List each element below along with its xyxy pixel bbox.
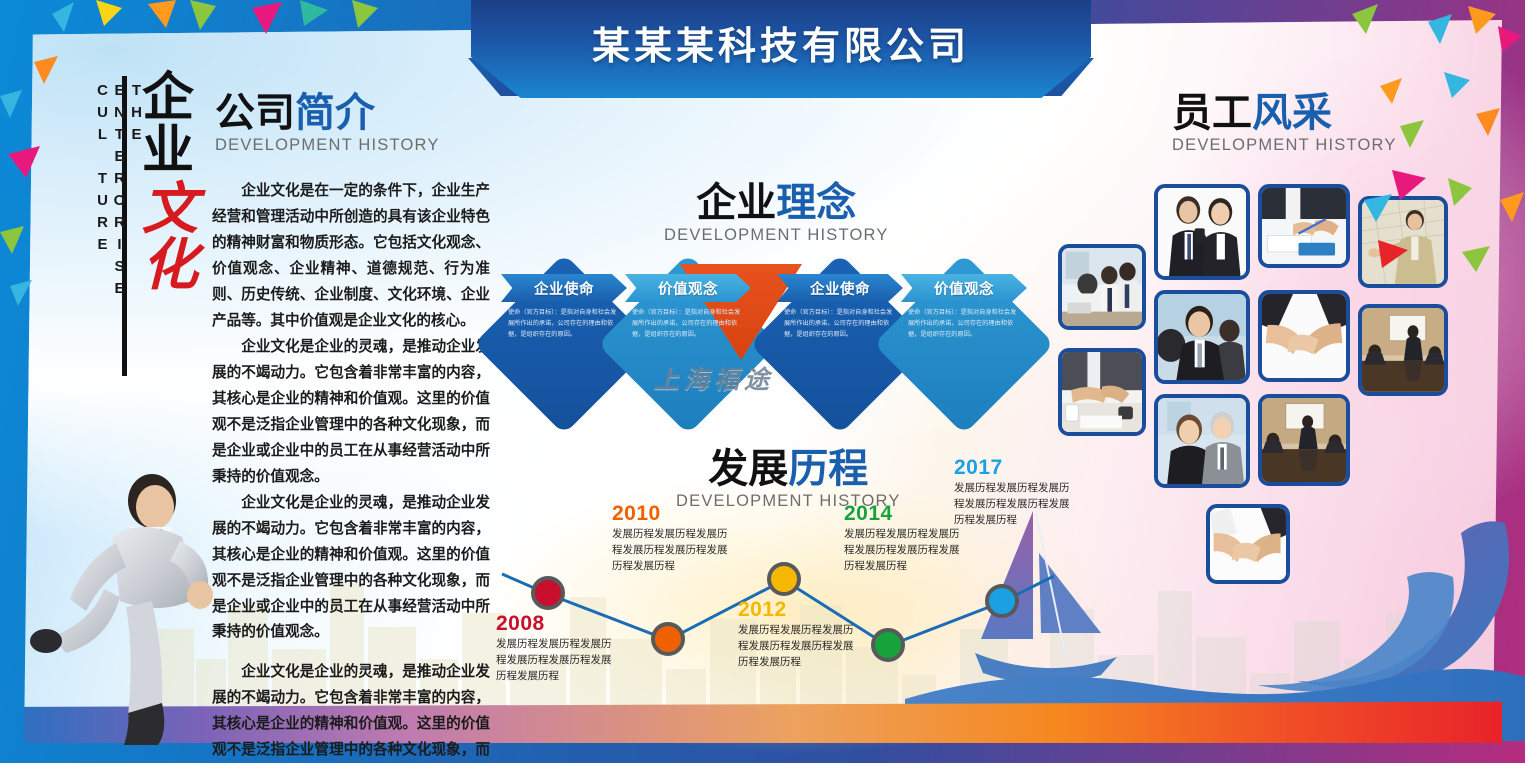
timeline-node-2017[interactable] [985,584,1019,618]
timeline-desc-2017: 发展历程发展历程发展历程发展历程发展历程发展历程发展历程 [954,481,1074,528]
staff-heading-cn-dark: 员工 [1172,90,1252,136]
photo-handshake-bottom[interactable] [1206,504,1290,584]
staff-heading-cn-blue: 风采 [1252,90,1332,136]
intro-paragraph-1: 企业文化是在一定的条件下，企业生产经营和管理活动中所创造的具有该企业特色的精神财… [212,178,490,334]
section-heading-idea: 企业理念 DEVELOPMENT HISTORY [664,182,889,245]
watermark-text: 上海福途 [654,360,774,396]
idea-heading-en: DEVELOPMENT HISTORY [664,226,889,245]
timeline-node-2008[interactable] [531,576,565,610]
photo-handshake-over-desk[interactable] [1058,348,1146,436]
section-heading-staff: 员工风采 DEVELOPMENT HISTORY [1172,92,1397,155]
company-heading-cn-blue: 简介 [295,90,375,136]
header-banner: 某某某科技有限公司 [471,0,1091,98]
intro-paragraph-3: 企业文化是企业的灵魂，是推动企业发展的不竭动力。它包含着非常丰富的内容，其核心是… [212,490,490,646]
photo-two-colleagues-smartphone[interactable] [1154,184,1250,280]
photo-young-businessman-portrait[interactable] [1154,290,1250,384]
two-colleagues-smartphone-photo [1158,188,1246,276]
boardroom-presentation-photo [1362,308,1444,392]
senior-couple-executives-photo [1158,398,1246,484]
meeting-room-presenter-photo [1262,398,1346,482]
timeline-item-2010[interactable]: 2010 发展历程发展历程发展历程发展历程发展历程发展历程发展历程 [612,502,732,574]
idea-body-2: 使命（官方目标）：是指对自身和社会发展所作出的承诺，公司存在的理由和依据，是组织… [632,308,744,341]
photo-handshake-closeup[interactable] [1258,290,1350,382]
timeline-item-2008[interactable]: 2008 发展历程发展历程发展历程发展历程发展历程发展历程发展历程 [496,612,616,684]
section-heading-company: 公司简介 DEVELOPMENT HISTORY [215,92,440,155]
photo-boardroom-presentation[interactable] [1358,304,1448,396]
intro-paragraph-2: 企业文化是企业的灵魂，是推动企业发展的不竭动力。它包含着非常丰富的内容，其核心是… [212,334,490,490]
timeline-desc-2008: 发展历程发展历程发展历程发展历程发展历程发展历程发展历程 [496,637,616,684]
handshake-bottom-photo [1210,508,1286,580]
left-title-cn-top: 企业 [142,72,218,178]
left-title-chinese: 企业 文化 [142,72,218,294]
timeline-year-2008: 2008 [496,612,616,636]
idea-heading-cn-blue: 理念 [776,180,856,226]
company-intro-text: 企业文化是在一定的条件下，企业生产经营和管理活动中所创造的具有该企业特色的精神财… [212,178,490,763]
photo-team-meeting-laptop[interactable] [1058,244,1146,330]
company-heading-cn-dark: 公司 [215,90,295,136]
company-heading-en: DEVELOPMENT HISTORY [215,136,440,155]
timeline-year-2012: 2012 [738,598,858,622]
left-vertical-title: THE ENTERORISE CUL TURE 企业 文化 [50,72,218,384]
handshake-closeup-photo [1262,294,1346,378]
culture-wall-poster: 某某某科技有限公司 THE ENTERORISE CUL TURE 企业 文化 … [0,0,1525,763]
idea-label-4[interactable]: 价值观念 [901,274,1027,302]
staff-heading-en: DEVELOPMENT HISTORY [1172,136,1397,155]
employee-photo-grid [1058,186,1488,586]
left-title-english: THE ENTERORISE CUL TURE [94,82,145,384]
man-presenting-outdoor-photo [1362,200,1444,284]
photo-man-presenting-outdoor[interactable] [1358,196,1448,288]
running-businessman-photo [12,445,242,745]
idea-body-1: 使命（官方目标）：是指对自身和社会发展所作出的承诺，公司存在的理由和依据，是组织… [508,308,620,341]
timeline-desc-2010: 发展历程发展历程发展历程发展历程发展历程发展历程发展历程 [612,527,732,574]
development-timeline: 2008 发展历程发展历程发展历程发展历程发展历程发展历程发展历程 2010 发… [496,480,1056,710]
timeline-item-2014[interactable]: 2014 发展历程发展历程发展历程发展历程发展历程发展历程发展历程 [844,502,964,574]
photo-hands-signing-documents[interactable] [1258,184,1350,268]
timeline-node-2014[interactable] [871,628,905,662]
team-meeting-laptop-photo [1062,248,1142,326]
young-businessman-portrait-photo [1158,294,1246,380]
left-title-cn-bottom: 文化 [142,182,218,294]
intro-paragraph-4: 企业文化是企业的灵魂，是推动企业发展的不竭动力。它包含着非常丰富的内容，其核心是… [212,659,490,763]
timeline-year-2017: 2017 [954,456,1074,480]
hands-signing-documents-photo [1262,188,1346,265]
idea-label-2[interactable]: 价值观念 [625,274,751,302]
timeline-desc-2012: 发展历程发展历程发展历程发展历程发展历程发展历程发展历程 [738,623,858,670]
timeline-item-2012[interactable]: 2012 发展历程发展历程发展历程发展历程发展历程发展历程发展历程 [738,598,858,670]
timeline-year-2010: 2010 [612,502,732,526]
idea-heading-cn-dark: 企业 [696,180,776,226]
photo-meeting-room-presenter[interactable] [1258,394,1350,486]
timeline-item-2017[interactable]: 2017 发展历程发展历程发展历程发展历程发展历程发展历程发展历程 [954,456,1074,528]
idea-diamond-group: 使命（官方目标）：是指对自身和社会发展所作出的承诺，公司存在的理由和依据，是组织… [498,252,1018,442]
timeline-node-2012[interactable] [767,562,801,596]
photo-senior-couple-executives[interactable] [1154,394,1250,488]
idea-label-3[interactable]: 企业使命 [777,274,903,302]
company-title: 某某某科技有限公司 [592,15,970,84]
timeline-year-2014: 2014 [844,502,964,526]
idea-label-1[interactable]: 企业使命 [501,274,627,302]
timeline-node-2010[interactable] [651,622,685,656]
idea-body-4: 使命（官方目标）：是指对自身和社会发展所作出的承诺，公司存在的理由和依据，是组织… [908,308,1020,341]
idea-body-3: 使命（官方目标）：是指对自身和社会发展所作出的承诺，公司存在的理由和依据，是组织… [784,308,896,341]
timeline-desc-2014: 发展历程发展历程发展历程发展历程发展历程发展历程发展历程 [844,527,964,574]
handshake-over-desk-photo [1062,352,1142,432]
